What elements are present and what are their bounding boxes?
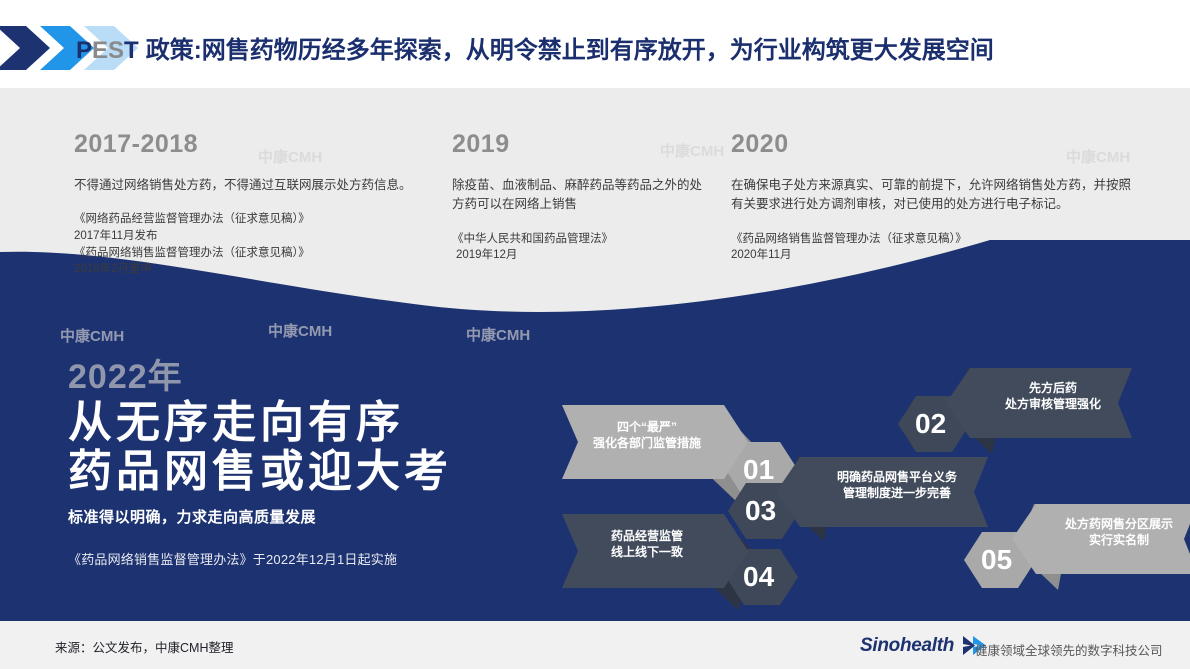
reference-line: 2018年2月重申	[74, 261, 454, 278]
step-number-02: 02	[915, 410, 946, 438]
step-label-line1: 先方后药	[974, 380, 1132, 396]
brand-logo: Sinohealth	[860, 635, 987, 657]
reference-line: 《药品网络销售监督管理办法（征求意见稿）》	[731, 231, 1131, 248]
timeline-column: 2019 除疫苗、血液制品、麻醉药品等药品之外的处方药可以在网络上销售 《中华人…	[452, 130, 714, 264]
brand-tagline: 健康领域全球领先的数字科技公司	[975, 640, 1163, 659]
step-item-04[interactable]: 药品经营监管 线上线下一致 04	[548, 508, 798, 618]
brand-name: Sinohealth	[860, 635, 954, 657]
timeline-year: 2020	[731, 130, 1131, 159]
page-title: PEST政策:网售药物历经多年探索，从明令禁止到有序放开，为行业构筑更大发展空间	[76, 30, 994, 65]
step-label-line2: 实行实名制	[1040, 532, 1190, 548]
title-letter-t: T	[124, 37, 139, 64]
hero-block: 2022年 从无序走向有序 药品网售或迎大考 标准得以明确，力求走向高质量发展 …	[68, 360, 452, 568]
step-label-line2: 线上线下一致	[562, 544, 732, 560]
step-label-line2: 强化各部门监管措施	[562, 435, 732, 451]
timeline-references: 《网络药品经营监督管理办法（征求意见稿）》 2017年11月发布 《药品网络销售…	[74, 211, 454, 278]
step-label-05: 处方药网售分区展示 实行实名制	[1040, 516, 1190, 548]
step-label-02: 先方后药 处方审核管理强化	[974, 380, 1132, 412]
timeline-column: 2017-2018 不得通过网络销售处方药，不得通过互联网展示处方药信息。 《网…	[74, 130, 454, 278]
step-label-line2: 处方审核管理强化	[974, 396, 1132, 412]
timeline-references: 《药品网络销售监督管理办法（征求意见稿）》 2020年11月	[731, 231, 1131, 264]
step-label-line1: 药品经营监管	[562, 528, 732, 544]
step-label-04: 药品经营监管 线上线下一致	[562, 528, 732, 560]
hero-note: 《药品网络销售监督管理办法》于2022年12月1日起实施	[68, 549, 452, 568]
hero-headline-line1: 从无序走向有序	[68, 398, 452, 447]
reference-line: 2017年11月发布	[74, 228, 454, 245]
timeline-column: 2020 在确保电子处方来源真实、可靠的前提下，允许网络销售处方药，并按照有关要…	[731, 130, 1131, 264]
source-text: 来源：公文发布，中康CMH整理	[55, 637, 233, 656]
reference-line: 《网络药品经营监督管理办法（征求意见稿）》	[74, 211, 454, 228]
hero-headline-line2: 药品网售或迎大考	[68, 447, 452, 496]
step-number-05: 05	[981, 546, 1012, 574]
step-label-line1: 明确药品网售平台义务	[806, 469, 988, 485]
hero-subtitle: 标准得以明确，力求走向高质量发展	[68, 506, 452, 527]
step-item-05[interactable]: 处方药网售分区展示 实行实名制 05	[960, 500, 1190, 610]
slide-header: PEST政策:网售药物历经多年探索，从明令禁止到有序放开，为行业构筑更大发展空间	[0, 0, 1190, 88]
step-label-line1: 四个“最严”	[562, 419, 732, 435]
hero-year: 2022年	[68, 360, 452, 394]
timeline-columns: 2017-2018 不得通过网络销售处方药，不得通过互联网展示处方药信息。 《网…	[0, 130, 1190, 300]
slide-canvas: 中康CMH 中康CMH 中康CMH 中康CMH 中康CMH 中康CMH 中康CM…	[0, 0, 1190, 669]
timeline-summary: 在确保电子处方来源真实、可靠的前提下，允许网络销售处方药，并按照有关要求进行处方…	[731, 176, 1131, 215]
step-label-line1: 处方药网售分区展示	[1040, 516, 1190, 532]
title-letter-p: P	[76, 37, 92, 64]
reference-line: 2020年11月	[731, 247, 1131, 264]
timeline-summary: 不得通过网络销售处方药，不得通过互联网展示处方药信息。	[74, 176, 454, 195]
timeline-year: 2019	[452, 130, 714, 159]
timeline-references: 《中华人民共和国药品管理法》 2019年12月	[452, 231, 714, 264]
title-chinese: 政策:网售药物历经多年探索，从明令禁止到有序放开，为行业构筑更大发展空间	[146, 37, 994, 64]
steps-diagram: 四个“最严” 强化各部门监管措施 01 先方后药 处方审核管理强化 02	[520, 350, 1190, 610]
timeline-year: 2017-2018	[74, 130, 454, 159]
step-label-line2: 管理制度进一步完善	[806, 485, 988, 501]
step-label-03: 明确药品网售平台义务 管理制度进一步完善	[806, 469, 988, 501]
slide-footer: 来源：公文发布，中康CMH整理 Sinohealth 健康领域全球领先的数字科技…	[0, 621, 1190, 669]
title-letters-es: ES	[92, 37, 124, 64]
reference-line: 《中华人民共和国药品管理法》	[452, 231, 714, 248]
step-label-01: 四个“最严” 强化各部门监管措施	[562, 419, 732, 451]
timeline-summary: 除疫苗、血液制品、麻醉药品等药品之外的处方药可以在网络上销售	[452, 176, 714, 215]
reference-line: 2019年12月	[452, 247, 714, 264]
step-number-04: 04	[743, 563, 774, 591]
reference-line: 《药品网络销售监督管理办法（征求意见稿）》	[74, 245, 454, 262]
